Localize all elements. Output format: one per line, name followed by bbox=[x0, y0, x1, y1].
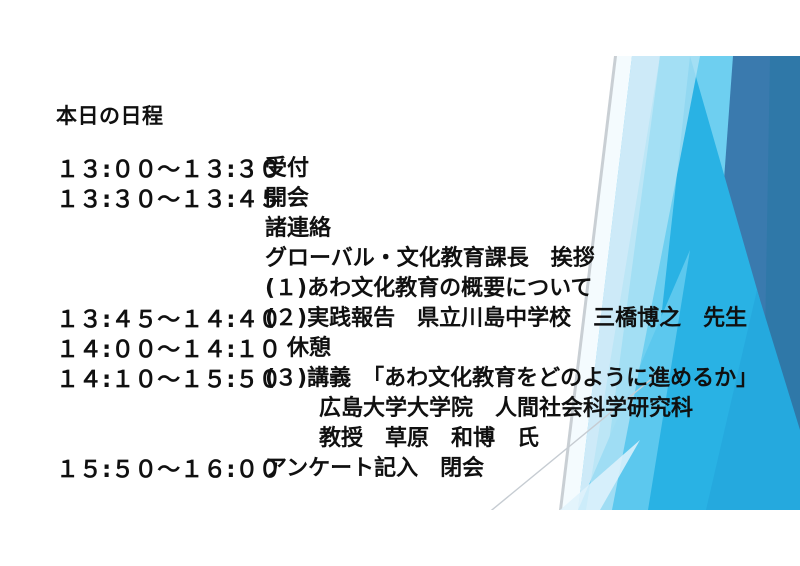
slide-content: 本日の日程 １３:００～１３:３０ 受付 １３:３０～１３:４５ 開会 諸連絡 … bbox=[0, 0, 800, 566]
page-title: 本日の日程 bbox=[56, 100, 164, 130]
agenda-row: １３:３０～１３:４５ 開会 bbox=[56, 180, 796, 210]
agenda-row: １５:５０～１６:００ アンケート記入 閉会 bbox=[56, 450, 796, 480]
agenda-row: 諸連絡 bbox=[56, 210, 796, 240]
agenda-description: 休憩 bbox=[261, 330, 331, 362]
presentation-slide: 本日の日程 １３:００～１３:３０ 受付 １３:３０～１３:４５ 開会 諸連絡 … bbox=[0, 0, 800, 566]
agenda-row: １３:００～１３:３０ 受付 bbox=[56, 150, 796, 180]
agenda-description: (２)実践報告 県立川島中学校 三橋博之 先生 bbox=[261, 300, 747, 332]
agenda-description: (１)あわ文化教育の概要について bbox=[261, 270, 592, 302]
agenda-description: 広島大学大学院 人間社会科学研究科 bbox=[261, 390, 693, 422]
agenda-description: グローバル・文化教育課長 挨拶 bbox=[261, 240, 595, 272]
agenda-time: １４:００～１４:１０ bbox=[56, 330, 261, 364]
agenda-description: 教授 草原 和博 氏 bbox=[261, 420, 539, 452]
agenda-row: グローバル・文化教育課長 挨拶 bbox=[56, 240, 796, 270]
agenda-list: １３:００～１３:３０ 受付 １３:３０～１３:４５ 開会 諸連絡 グローバル・… bbox=[56, 150, 796, 480]
agenda-row: 広島大学大学院 人間社会科学研究科 bbox=[56, 390, 796, 420]
agenda-description: 開会 bbox=[261, 180, 309, 212]
agenda-time: １３:３０～１３:４５ bbox=[56, 180, 261, 214]
agenda-row: １４:００～１４:１０ 休憩 bbox=[56, 330, 796, 360]
agenda-description: (３)講義 「あわ文化教育をどのように進めるか」 bbox=[261, 360, 758, 392]
agenda-time: １４:１０～１５:５０ bbox=[56, 360, 261, 394]
agenda-row: (１)あわ文化教育の概要について bbox=[56, 270, 796, 300]
agenda-time: １５:５０～１６:００ bbox=[56, 450, 261, 484]
agenda-description: アンケート記入 閉会 bbox=[261, 450, 484, 482]
agenda-time: １３:００～１３:３０ bbox=[56, 150, 261, 184]
agenda-description: 諸連絡 bbox=[261, 210, 331, 242]
agenda-time: １３:４５～１４:４０ bbox=[56, 300, 261, 334]
agenda-row: １３:４５～１４:４０ (２)実践報告 県立川島中学校 三橋博之 先生 bbox=[56, 300, 796, 330]
agenda-row: 教授 草原 和博 氏 bbox=[56, 420, 796, 450]
agenda-description: 受付 bbox=[261, 150, 309, 182]
agenda-row: １４:１０～１５:５０ (３)講義 「あわ文化教育をどのように進めるか」 bbox=[56, 360, 796, 390]
